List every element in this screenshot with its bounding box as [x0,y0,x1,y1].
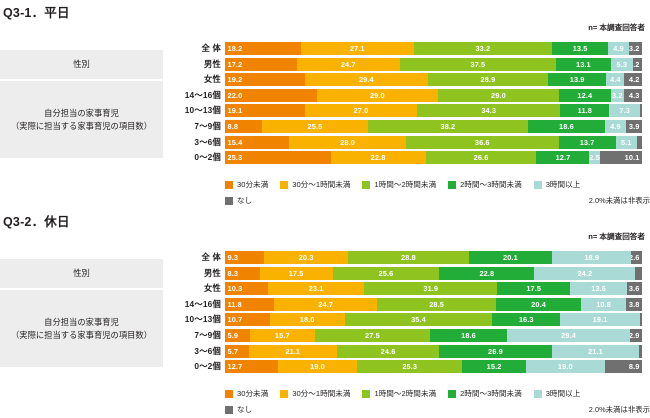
bar-segment-value: 19.0 [310,362,325,371]
legend-swatch-1h-2h-icon [362,390,370,398]
bar-segment: 24.7 [274,298,377,311]
legend-swatch-under30min-icon [225,390,233,398]
bar-segment-value: 24.6 [381,347,396,356]
bar-segment: 11.8 [225,298,274,311]
chart-row-label: 女性 [0,282,225,295]
bar-segment: 17.2 [225,58,297,71]
bar-segment: 22.0 [225,89,317,102]
legend-item: 1時間〜2時間未満 [362,179,436,190]
chart-legend-weekday: 30分未満30分〜1時間未満1時間〜2時間未満2時間〜3時間未満3時間以上なし2… [225,178,650,207]
bar-segment: 13.1 [556,58,611,71]
bar-segment: 29.4 [507,329,630,342]
bar-segment: 5.1 [616,136,637,149]
chart-row-label: 全 体 [0,42,225,55]
stacked-bar-chart-weekday: 全 体18.227.133.213.54.93.2男性17.224.737.51… [0,42,650,167]
bar-segment-value: 18.0 [300,315,315,324]
bar-segment: 4.4 [606,73,624,86]
bar-segment: 18.2 [225,42,301,55]
bar-segment: 3.2 [611,89,624,102]
bar-segment: 22.8 [331,151,426,164]
bar-segment-value: 5.1 [621,138,632,147]
legend-item: 30分〜1時間未満 [280,388,350,399]
chart-row: 7〜9個5.915.727.518.629.42.9 [0,329,650,342]
bar-segment-value: 27.5 [365,331,380,340]
bar-segment-value: 19.1 [593,315,608,324]
legend-item-label: 30分未満 [237,179,268,190]
bar-segment: 21.1 [552,345,640,358]
bar-segment-value: 13.5 [573,44,588,53]
legend-item-label: 2時間〜3時間未満 [460,388,522,399]
bar-segment: 19.2 [225,73,305,86]
chart-row: 女性19.229.428.913.94.44.2 [0,73,650,86]
bar-segment: 5.9 [225,329,250,342]
chart-row-label: 0〜2個 [0,151,225,164]
bar-segment-value: 4.9 [613,44,624,53]
chart-row: 全 体9.320.328.820.118.92.6 [0,251,650,264]
survey-chart-page: Q3-1．平日 n= 本調査回答者 性別 自分担当の家事育児 （実際に担当する家… [0,0,650,418]
chart-legend-holiday: 30分未満30分〜1時間未満1時間〜2時間未満2時間〜3時間未満3時間以上なし2… [225,387,650,416]
bar-segment: 3.6 [627,282,642,295]
bar-segment: 8.3 [225,267,260,280]
bar-segment-value: 11.8 [578,106,592,115]
stacked-bar: 8.317.525.622.824.2 [225,267,642,280]
bar-segment: 24.2 [534,267,635,280]
stacked-bar: 12.719.025.315.219.08.9 [225,360,642,373]
bar-segment: 25.6 [333,267,440,280]
legend-swatch-2h-3h-icon [448,390,456,398]
legend-item-label: 1時間〜2時間未満 [374,179,436,190]
bar-segment-value: 24.7 [318,300,333,309]
bar-segment: 12.7 [536,151,589,164]
bar-segment-value: 24.2 [577,269,592,278]
legend-row-secondary: なし2.0%未満は非表示 [225,194,650,207]
stacked-bar: 17.224.737.513.15.32.2 [225,58,642,71]
bar-segment: 25.3 [225,151,331,164]
bar-segment: 26.9 [439,345,551,358]
bar-segment: 28.9 [428,73,549,86]
bar-segment: 19.0 [526,360,605,373]
bar-segment: 15.2 [462,360,525,373]
bar-segment-value: 24.7 [341,60,356,69]
bar-segment-value: 28.5 [429,300,444,309]
legend-swatch-1h-2h-icon [362,181,370,189]
bar-segment-value: 28.9 [481,75,496,84]
bar-segment-value: 2.2 [633,60,640,69]
bar-segment: 4.9 [608,42,628,55]
stacked-bar: 25.322.826.612.72.510.1 [225,151,642,164]
bar-segment-value: 27.1 [350,44,365,53]
legend-swatch-2h-3h-icon [448,181,456,189]
bar-segment-value: 5.7 [228,347,239,356]
bar-segment: 2.2 [633,58,642,71]
bar-segment-value: 4.3 [629,91,640,100]
bar-segment-value: 25.3 [228,153,243,162]
bar-segment-value: 16.3 [519,315,534,324]
bar-segment [635,267,642,280]
bar-segment: 17.5 [260,267,333,280]
bar-segment-value: 8.3 [228,269,239,278]
bar-segment-value: 12.4 [577,91,592,100]
bar-segment-value: 17.2 [228,60,243,69]
legend-swatch-none-icon [225,406,233,414]
bar-segment-value: 33.2 [475,44,490,53]
bar-segment: 19.1 [560,313,640,326]
bar-segment: 20.3 [264,251,349,264]
legend-item: 2時間〜3時間未満 [448,388,522,399]
bar-segment-value: 26.9 [488,347,503,356]
bar-segment-value: 8.9 [629,362,640,371]
bar-segment: 8.8 [225,120,262,133]
bar-segment: 31.9 [364,282,497,295]
bar-segment: 2.5 [589,151,599,164]
legend-row-primary: 30分未満30分〜1時間未満1時間〜2時間未満2時間〜3時間未満3時間以上 [225,178,650,191]
chart-row: 10〜13個10.718.035.416.319.1 [0,313,650,326]
bar-segment-value: 2.9 [630,331,640,340]
legend-item-label: なし [237,195,252,206]
legend-item-label: 30分〜1時間未満 [292,179,350,190]
bar-segment-value: 15.7 [275,331,290,340]
bar-segment-value: 29.0 [370,91,385,100]
bar-segment-value: 8.8 [228,122,239,131]
bar-segment-value: 19.0 [558,362,573,371]
bar-segment: 2.9 [630,329,642,342]
bar-segment-value: 37.5 [470,60,485,69]
bar-segment: 4.2 [624,73,642,86]
bar-segment-value: 18.2 [228,44,243,53]
bar-segment: 11.8 [560,104,609,117]
bar-segment-value: 2.6 [631,253,639,262]
legend-item: なし [225,195,252,206]
legend-row-secondary: なし2.0%未満は非表示 [225,403,650,416]
bar-segment-value: 3.2 [612,91,623,100]
bar-segment-value: 9.3 [228,253,239,262]
bar-segment: 35.4 [345,313,493,326]
bar-segment: 18.6 [430,329,508,342]
chart-row-label: 男性 [0,267,225,280]
bar-segment: 12.7 [225,360,278,373]
chart-row: 3〜6個15.428.036.613.75.1 [0,136,650,149]
bar-segment-value: 22.8 [371,153,386,162]
chart-row-label: 3〜6個 [0,136,225,149]
bar-segment: 8.9 [605,360,642,373]
bar-segment: 17.5 [497,282,570,295]
chart-row-label: 7〜9個 [0,329,225,342]
bar-segment: 28.8 [348,251,468,264]
bar-segment: 15.7 [250,329,315,342]
bar-segment: 4.9 [605,120,625,133]
bar-segment-value: 4.9 [610,122,621,131]
bar-segment-value: 19.2 [228,75,243,84]
bar-segment: 2.6 [631,251,642,264]
stacked-bar: 19.229.428.913.94.44.2 [225,73,642,86]
bar-segment-value: 4.2 [629,75,640,84]
legend-item: 3時間以上 [534,388,581,399]
bar-segment-value: 20.3 [299,253,314,262]
bar-segment-value: 29.4 [561,331,576,340]
bar-segment-value: 38.2 [440,122,455,131]
bar-segment: 19.1 [225,104,305,117]
bar-segment: 18.6 [528,120,606,133]
legend-swatch-none-icon [225,197,233,205]
bar-segment-value: 17.5 [526,284,541,293]
legend-row-primary: 30分未満30分〜1時間未満1時間〜2時間未満2時間〜3時間未満3時間以上 [225,387,650,400]
bar-segment-value: 3.8 [629,300,640,309]
bar-segment-value: 4.4 [610,75,621,84]
bar-segment: 37.5 [400,58,556,71]
bar-segment-value: 3.6 [629,284,640,293]
chart-row-label: 3〜6個 [0,345,225,358]
sample-size-note: n= 本調査回答者 [588,231,645,242]
bar-segment-value: 31.9 [423,284,438,293]
bar-segment-value: 27.0 [354,106,369,115]
bar-segment-value: 18.9 [584,253,599,262]
bar-segment-value: 22.0 [228,91,243,100]
chart-row-label: 女性 [0,73,225,86]
bar-segment-value: 22.8 [479,269,494,278]
bar-segment-value: 13.6 [591,284,606,293]
bar-segment-value: 17.5 [289,269,304,278]
chart-row: 女性10.323.131.917.513.63.6 [0,282,650,295]
chart-row-label: 14〜16個 [0,89,225,102]
bar-segment: 36.6 [406,136,559,149]
bar-segment: 25.3 [357,360,462,373]
bar-segment [637,136,642,149]
bar-segment: 13.7 [559,136,616,149]
bar-segment: 5.3 [611,58,633,71]
chart-row: 男性8.317.525.622.824.2 [0,267,650,280]
bar-segment: 15.4 [225,136,289,149]
chart-row-label: 14〜16個 [0,298,225,311]
bar-segment-value: 20.4 [531,300,546,309]
stacked-bar-chart-holiday: 全 体9.320.328.820.118.92.6男性8.317.525.622… [0,251,650,376]
stacked-bar: 5.721.124.626.921.1 [225,345,642,358]
bar-segment: 29.0 [317,89,438,102]
bar-segment: 25.5 [262,120,368,133]
bar-segment: 19.0 [278,360,357,373]
bar-segment-value: 15.4 [228,138,243,147]
chart-row: 14〜16個22.029.029.012.43.24.3 [0,89,650,102]
legend-item-label: 1時間〜2時間未満 [374,388,436,399]
bar-segment-value: 7.3 [619,106,630,115]
bar-segment [640,104,642,117]
legend-item: 30分未満 [225,388,268,399]
bar-segment: 9.3 [225,251,264,264]
bar-segment: 20.4 [496,298,581,311]
bar-segment: 3.9 [626,120,642,133]
bar-segment: 28.5 [377,298,496,311]
bar-segment-value: 29.4 [359,75,374,84]
chart-row: 3〜6個5.721.124.626.921.1 [0,345,650,358]
bar-segment: 38.2 [368,120,527,133]
chart-row-label: 0〜2個 [0,360,225,373]
chart-row-label: 全 体 [0,251,225,264]
stacked-bar: 10.718.035.416.319.1 [225,313,642,326]
bar-segment: 18.9 [552,251,631,264]
chart-row-label: 男性 [0,58,225,71]
bar-segment: 7.3 [609,104,639,117]
bar-segment-value: 21.1 [285,347,300,356]
bar-segment-value: 5.3 [616,60,627,69]
bar-segment-value: 23.1 [309,284,324,293]
bar-segment: 33.2 [414,42,552,55]
stacked-bar: 9.320.328.820.118.92.6 [225,251,642,264]
legend-swatch-30min-1h-icon [280,181,288,189]
bar-segment-value: 11.8 [228,300,242,309]
bar-segment: 13.6 [570,282,627,295]
legend-item-label: 3時間以上 [546,388,581,399]
bar-segment [639,345,642,358]
bar-segment: 26.6 [426,151,537,164]
bar-segment-value: 28.0 [340,138,355,147]
bar-segment-value: 5.9 [228,331,239,340]
legend-item-label: 30分〜1時間未満 [292,388,350,399]
bar-segment [640,313,642,326]
bar-segment: 27.0 [305,104,418,117]
legend-item: 2時間〜3時間未満 [448,179,522,190]
bar-segment: 10.1 [600,151,642,164]
bar-segment-value: 10.3 [228,284,243,293]
legend-item-label: 3時間以上 [546,179,581,190]
bar-segment: 12.4 [559,89,611,102]
bar-segment: 13.9 [548,73,606,86]
section-title: Q3-1．平日 [3,2,70,21]
bar-segment-value: 3.2 [629,44,640,53]
bar-segment: 4.3 [624,89,642,102]
bar-segment: 13.5 [552,42,608,55]
bar-segment-value: 36.6 [475,138,490,147]
legend-swatch-over3h-icon [534,181,542,189]
bar-segment-value: 13.7 [580,138,595,147]
legend-item: なし [225,404,252,415]
stacked-bar: 8.825.538.218.64.93.9 [225,120,642,133]
bar-segment-value: 20.1 [503,253,518,262]
bar-segment-value: 19.1 [228,106,243,115]
bar-segment-value: 12.7 [556,153,571,162]
bar-segment: 20.1 [469,251,553,264]
stacked-bar: 5.915.727.518.629.42.9 [225,329,642,342]
stacked-bar: 18.227.133.213.54.93.2 [225,42,642,55]
bar-segment: 27.5 [315,329,430,342]
sample-size-note: n= 本調査回答者 [588,22,645,33]
bar-segment-value: 3.9 [629,122,640,131]
bar-segment-value: 10.8 [596,300,611,309]
legend-swatch-over3h-icon [534,390,542,398]
bar-segment: 24.7 [297,58,400,71]
legend-swatch-under30min-icon [225,181,233,189]
bar-segment-value: 2.5 [589,153,599,162]
bar-segment: 16.3 [492,313,560,326]
stacked-bar: 15.428.036.613.75.1 [225,136,642,149]
legend-note: 2.0%未満は非表示 [589,195,650,206]
chart-row-label: 10〜13個 [0,104,225,117]
bar-segment-value: 26.6 [474,153,489,162]
stacked-bar: 10.323.131.917.513.63.6 [225,282,642,295]
bar-segment-value: 35.4 [411,315,426,324]
bar-segment-value: 15.2 [487,362,502,371]
bar-segment-value: 25.5 [308,122,323,131]
legend-item: 30分未満 [225,179,268,190]
bar-segment-value: 13.1 [576,60,591,69]
bar-segment-value: 21.1 [588,347,603,356]
bar-segment-value: 25.3 [402,362,417,371]
bar-segment: 21.1 [249,345,337,358]
legend-note: 2.0%未満は非表示 [589,404,650,415]
bar-segment: 29.0 [438,89,559,102]
chart-row: 0〜2個12.719.025.315.219.08.9 [0,360,650,373]
bar-segment-value: 25.6 [379,269,394,278]
bar-segment: 34.3 [417,104,560,117]
bar-segment: 24.6 [337,345,440,358]
bar-segment-value: 13.9 [570,75,585,84]
chart-row-label: 10〜13個 [0,313,225,326]
bar-segment-value: 28.8 [401,253,416,262]
chart-row: 0〜2個25.322.826.612.72.510.1 [0,151,650,164]
stacked-bar: 22.029.029.012.43.24.3 [225,89,642,102]
legend-item: 1時間〜2時間未満 [362,388,436,399]
bar-segment-value: 10.7 [228,315,243,324]
bar-segment: 10.7 [225,313,270,326]
bar-segment-value: 29.0 [491,91,506,100]
bar-segment: 18.0 [270,313,345,326]
bar-segment: 10.8 [581,298,626,311]
chart-row: 全 体18.227.133.213.54.93.2 [0,42,650,55]
bar-segment-value: 18.6 [559,122,574,131]
bar-segment: 3.8 [626,298,642,311]
legend-item-label: 2時間〜3時間未満 [460,179,522,190]
stacked-bar: 11.824.728.520.410.83.8 [225,298,642,311]
bar-segment-value: 10.1 [625,153,640,162]
bar-segment: 23.1 [268,282,364,295]
bar-segment: 29.4 [305,73,428,86]
chart-row: 7〜9個8.825.538.218.64.93.9 [0,120,650,133]
legend-swatch-30min-1h-icon [280,390,288,398]
bar-segment: 10.3 [225,282,268,295]
chart-row-label: 7〜9個 [0,120,225,133]
bar-segment: 28.0 [289,136,406,149]
bar-segment: 22.8 [439,267,534,280]
chart-row: 14〜16個11.824.728.520.410.83.8 [0,298,650,311]
bar-segment: 27.1 [301,42,414,55]
chart-row: 男性17.224.737.513.15.32.2 [0,58,650,71]
bar-segment-value: 18.6 [461,331,476,340]
section-title: Q3-2．休日 [3,211,70,230]
stacked-bar: 19.127.034.311.87.3 [225,104,642,117]
legend-item: 30分〜1時間未満 [280,179,350,190]
legend-item-label: なし [237,404,252,415]
legend-item-label: 30分未満 [237,388,268,399]
bar-segment: 5.7 [225,345,249,358]
chart-row: 10〜13個19.127.034.311.87.3 [0,104,650,117]
legend-item: 3時間以上 [534,179,581,190]
bar-segment-value: 34.3 [481,106,496,115]
bar-segment: 3.2 [629,42,642,55]
bar-segment-value: 12.7 [228,362,243,371]
